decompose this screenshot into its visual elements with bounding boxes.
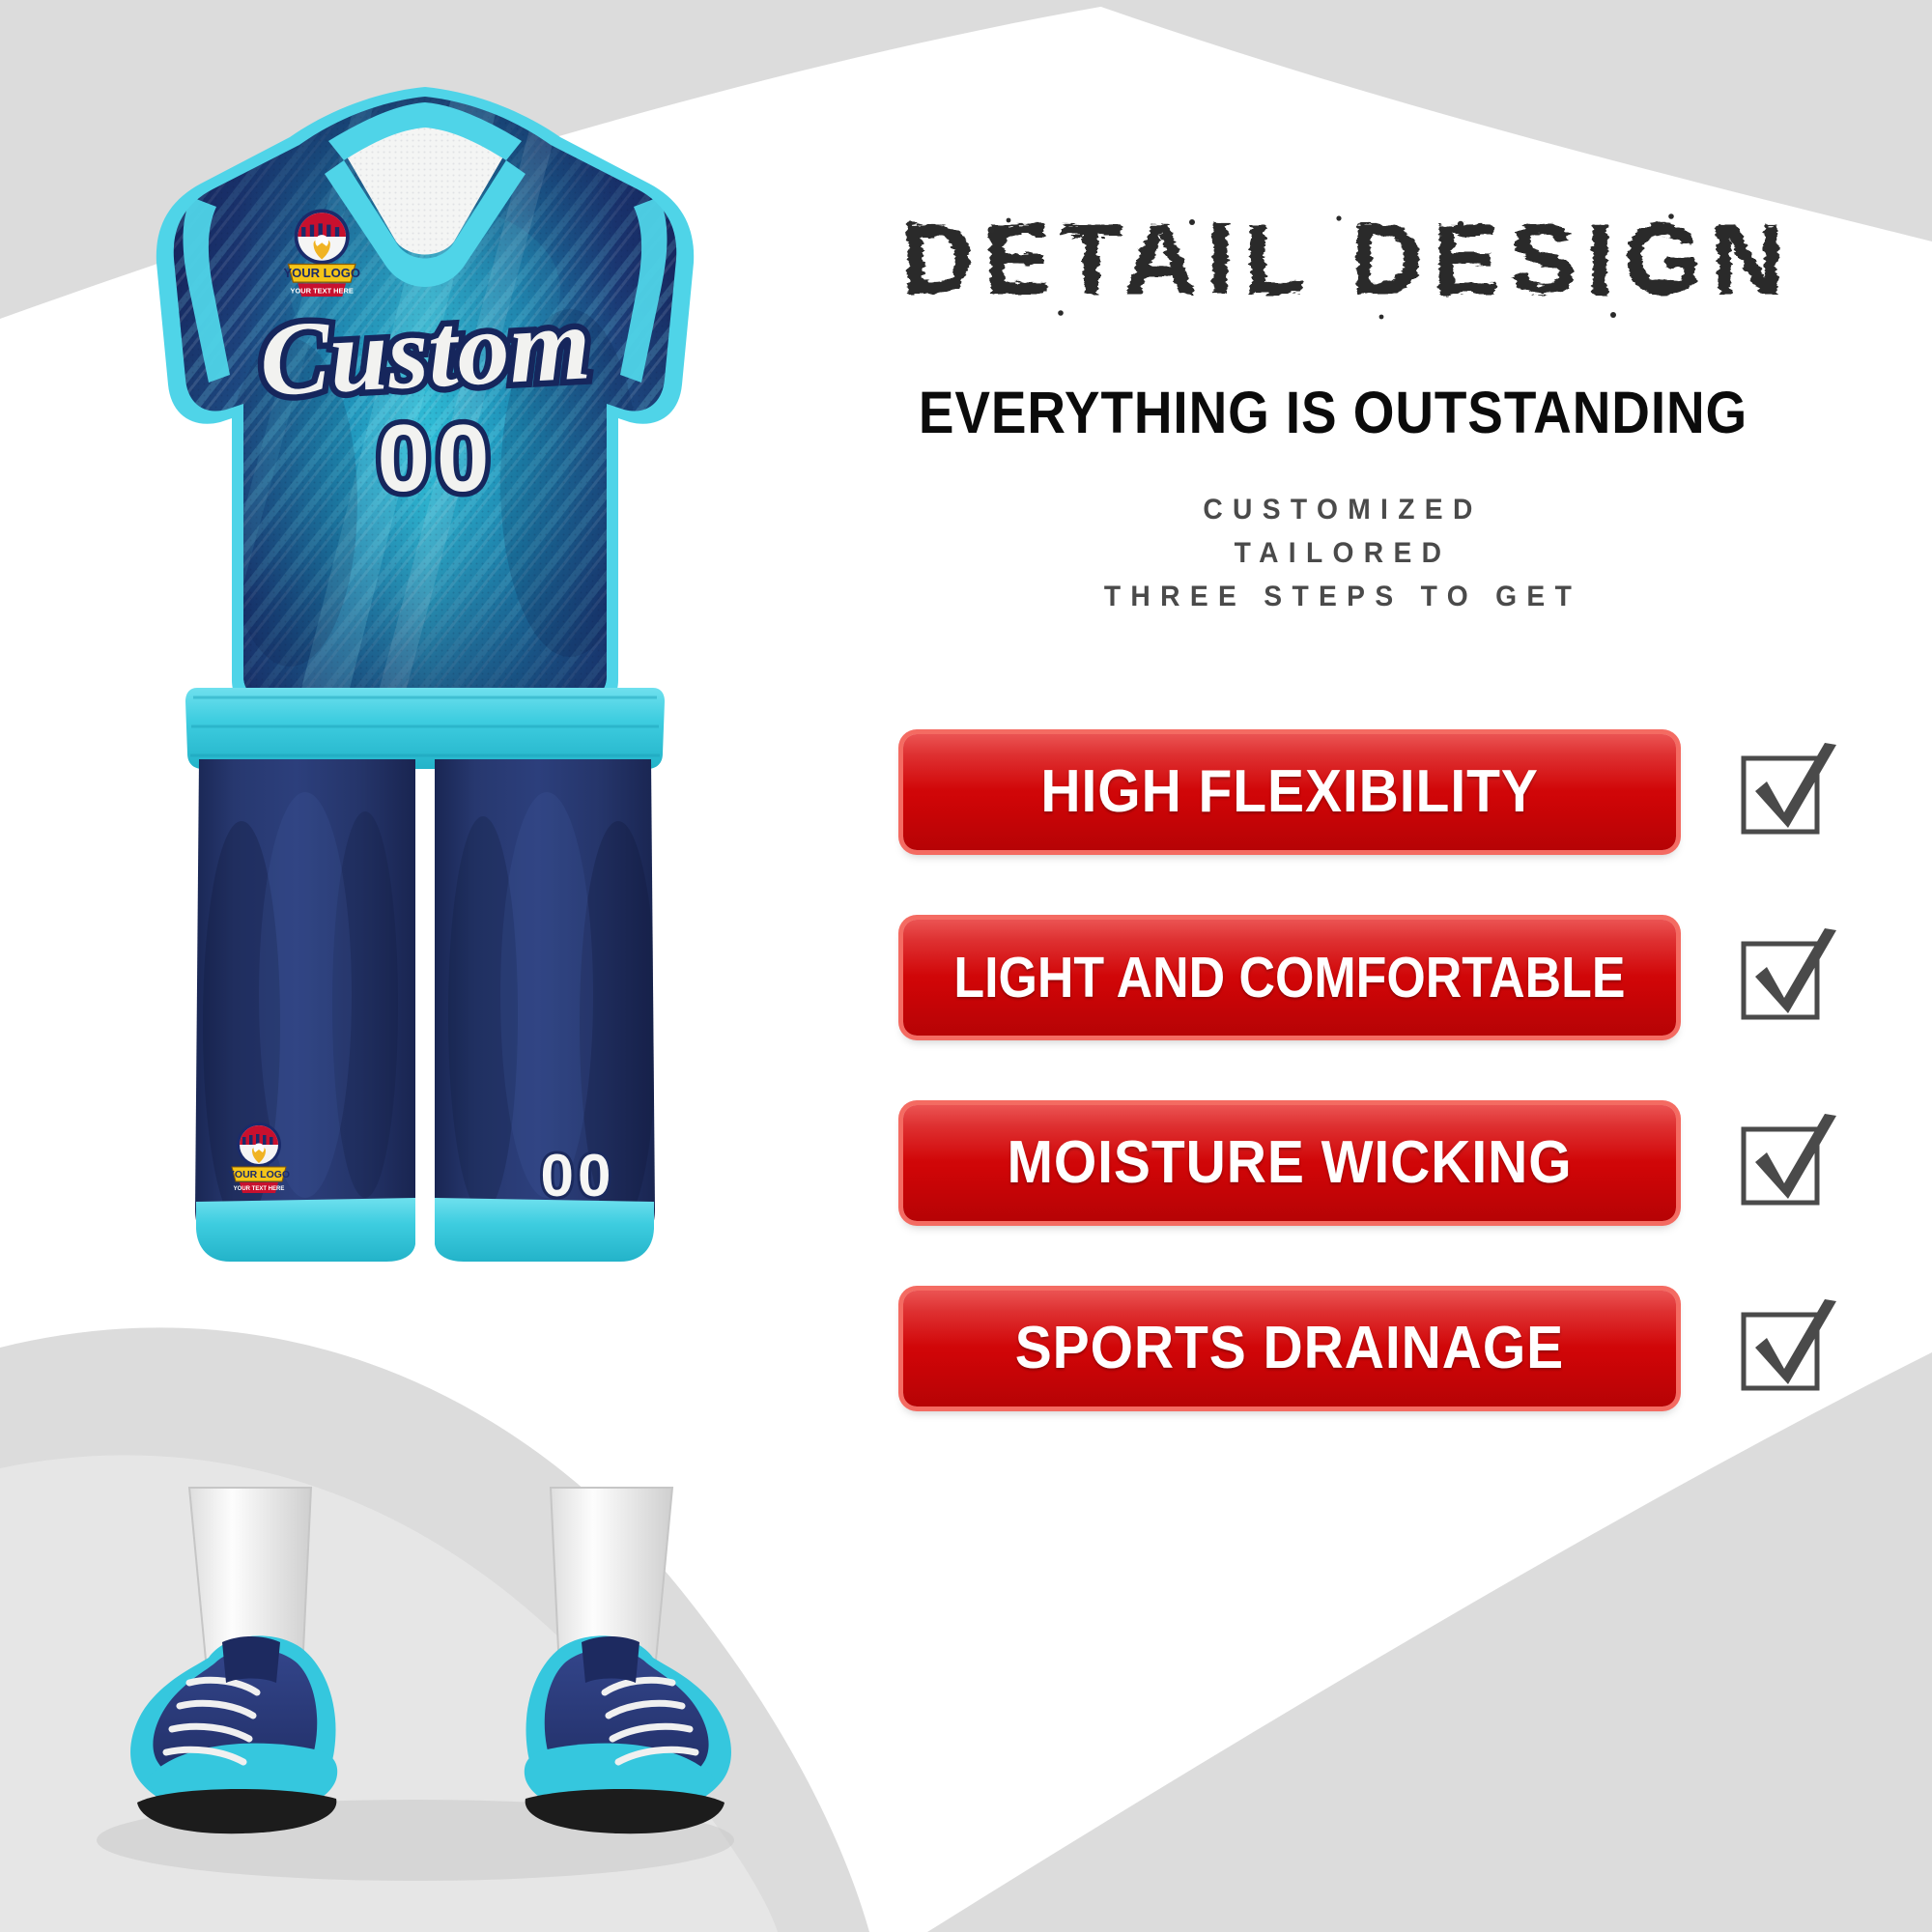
subtitle-line-2: TAILORED xyxy=(789,531,1897,575)
jersey-team-name: Custom xyxy=(257,286,593,418)
shoe-left xyxy=(130,1635,337,1833)
subtitle-line-3: THREE STEPS TO GET xyxy=(789,575,1897,618)
page-title-text: DETAIL DESIGN xyxy=(901,204,1794,316)
logo-primary-text: YOUR LOGO xyxy=(283,266,360,280)
footwear xyxy=(130,1488,731,1833)
feature-label: MOISTURE WICKING xyxy=(1007,1133,1572,1193)
feature-banner-light-and-comfortable[interactable]: LIGHT AND COMFORTABLE xyxy=(903,920,1676,1036)
feature-list: HIGH FLEXIBILITY LIGHT AND COMFORTABLE xyxy=(903,734,1932,1476)
subtitle-line-1: CUSTOMIZED xyxy=(789,488,1897,531)
shorts-logo-primary-text: YOUR LOGO xyxy=(228,1169,290,1180)
feature-row: MOISTURE WICKING xyxy=(903,1105,1932,1221)
jersey-number: 00 xyxy=(377,405,496,511)
feature-row: HIGH FLEXIBILITY xyxy=(903,734,1932,850)
logo-banner-secondary: YOUR TEXT HERE xyxy=(291,283,354,297)
feature-row: SPORTS DRAINAGE xyxy=(903,1291,1932,1406)
checkbox-checked-icon xyxy=(1732,739,1838,845)
page-title: DETAIL DESIGN xyxy=(802,193,1893,328)
feature-banner-moisture-wicking[interactable]: MOISTURE WICKING xyxy=(903,1105,1676,1221)
checkbox-checked-icon xyxy=(1732,1295,1838,1402)
checkbox-checked-icon xyxy=(1732,1110,1838,1216)
logo-banner-primary: YOUR LOGO xyxy=(283,265,360,283)
jersey: YOUR LOGO YOUR TEXT HERE Custom 00 xyxy=(156,87,694,734)
feature-row: LIGHT AND COMFORTABLE xyxy=(903,920,1932,1036)
shorts-hem-left xyxy=(196,1198,415,1262)
logo-secondary-text: YOUR TEXT HERE xyxy=(291,286,354,295)
feature-label: LIGHT AND COMFORTABLE xyxy=(953,948,1625,1008)
content-column: DETAIL DESIGN EVERYTHING IS OUTSTANDING … xyxy=(821,0,1932,1932)
headline: EVERYTHING IS OUTSTANDING xyxy=(794,382,1872,443)
shoe-right xyxy=(525,1635,731,1833)
checkbox-checked-icon xyxy=(1732,924,1838,1031)
shorts: YOUR LOGO YOUR TEXT HERE 00 xyxy=(184,688,676,1265)
feature-label: HIGH FLEXIBILITY xyxy=(1040,762,1538,822)
shorts-logo-secondary-text: YOUR TEXT HERE xyxy=(234,1186,285,1192)
product-detail-poster: YOUR LOGO YOUR TEXT HERE Custom 00 xyxy=(0,0,1932,1932)
feature-banner-high-flexibility[interactable]: HIGH FLEXIBILITY xyxy=(903,734,1676,850)
feature-banner-sports-drainage[interactable]: SPORTS DRAINAGE xyxy=(903,1291,1676,1406)
product-mockup: YOUR LOGO YOUR TEXT HERE Custom 00 xyxy=(0,0,850,1932)
subtitle-block: CUSTOMIZED TAILORED THREE STEPS TO GET xyxy=(789,488,1897,618)
feature-label: SPORTS DRAINAGE xyxy=(1015,1319,1564,1378)
shorts-number: 00 xyxy=(541,1143,615,1209)
